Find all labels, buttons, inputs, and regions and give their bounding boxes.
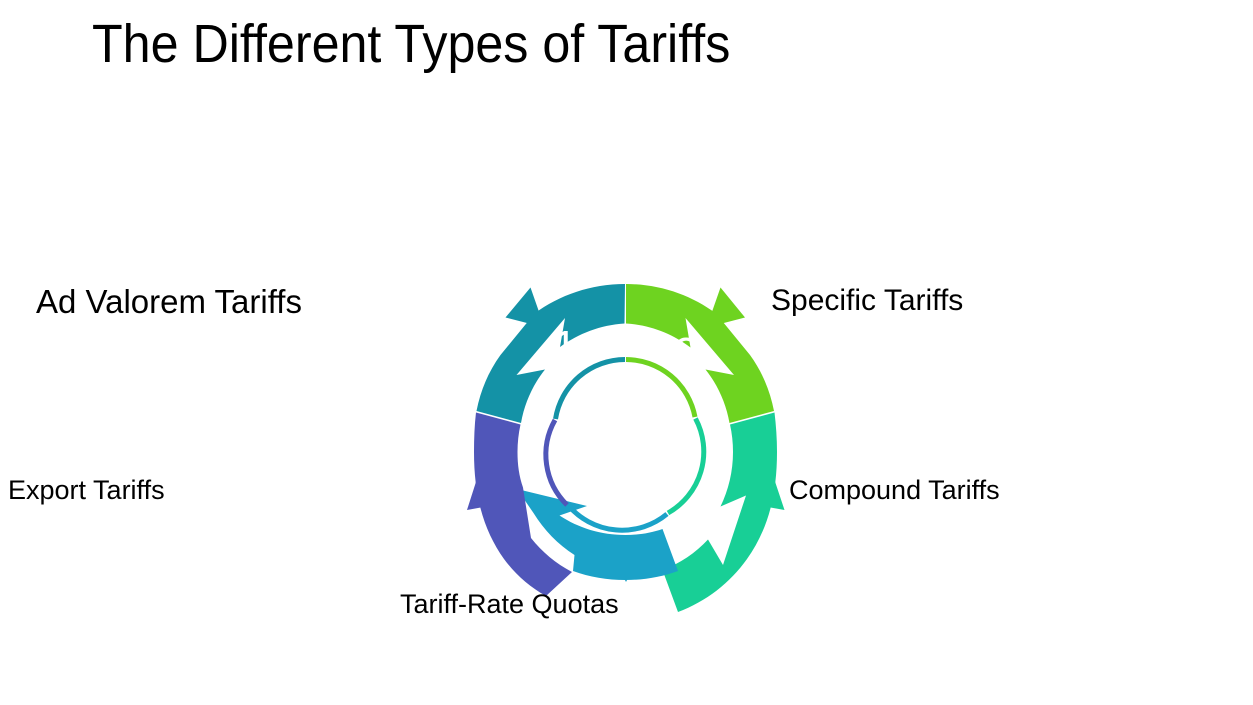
- callout-label-export-tariffs: Export Tariffs: [8, 475, 165, 506]
- page-title: The Different Types of Tariffs: [92, 12, 730, 76]
- cycle-diagram-svg: 1 2 3 4 5: [455, 265, 795, 595]
- segment-2-number: 2: [674, 329, 698, 378]
- segment-3-number: 3: [708, 428, 732, 477]
- cycle-diagram: 1 2 3 4 5: [455, 265, 795, 595]
- callout-label-compound-tariffs: Compound Tariffs: [789, 475, 1000, 506]
- segment-1-number: 1: [553, 322, 577, 371]
- cycle-hub: [568, 394, 684, 510]
- callout-label-ad-valorem-tariffs: Ad Valorem Tariffs: [36, 283, 302, 321]
- callout-label-tariff-rate-quotas: Tariff-Rate Quotas: [400, 589, 619, 620]
- callout-label-specific-tariffs: Specific Tariffs: [771, 284, 963, 319]
